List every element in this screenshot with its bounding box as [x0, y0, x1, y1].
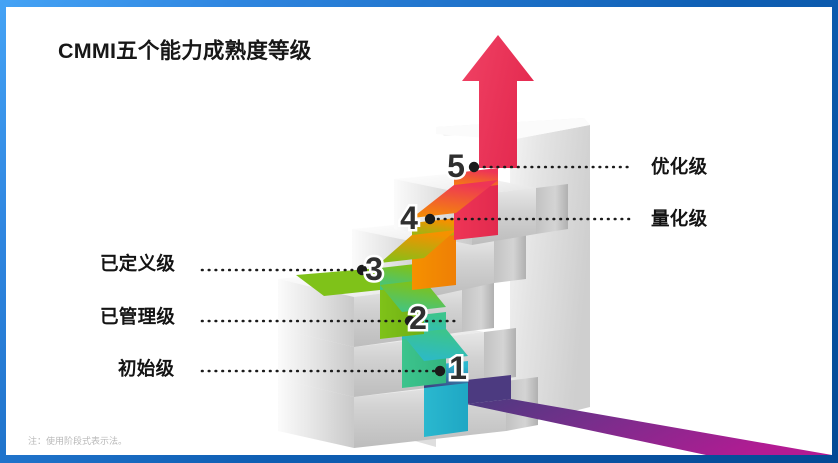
level-label-defined: 已定义级 — [100, 250, 175, 276]
staircase-svg: 1 1 2 2 3 3 4 4 5 5 — [6, 7, 832, 455]
connector-dot-1 — [435, 366, 445, 376]
step-number-1: 1 — [449, 350, 467, 386]
step-number-5: 5 — [447, 148, 465, 184]
step-number-4: 4 — [400, 200, 418, 236]
slide-frame: CMMI五个能力成熟度等级 — [0, 0, 838, 463]
slide-canvas: CMMI五个能力成熟度等级 — [6, 7, 832, 455]
step-number-3: 3 — [365, 251, 383, 287]
step-number-2: 2 — [409, 300, 427, 336]
footnote: 注：使用阶段式表示法。 — [28, 434, 127, 447]
level-label-initial: 初始级 — [118, 355, 174, 381]
level-label-quantitative: 量化级 — [651, 205, 707, 231]
connector-dot-5 — [469, 162, 479, 172]
level-label-managed: 已管理级 — [100, 303, 175, 329]
connector-dot-4 — [425, 214, 435, 224]
level-label-optimizing: 优化级 — [651, 153, 707, 179]
cmmi-staircase-diagram: 1 1 2 2 3 3 4 4 5 5 — [6, 7, 832, 455]
